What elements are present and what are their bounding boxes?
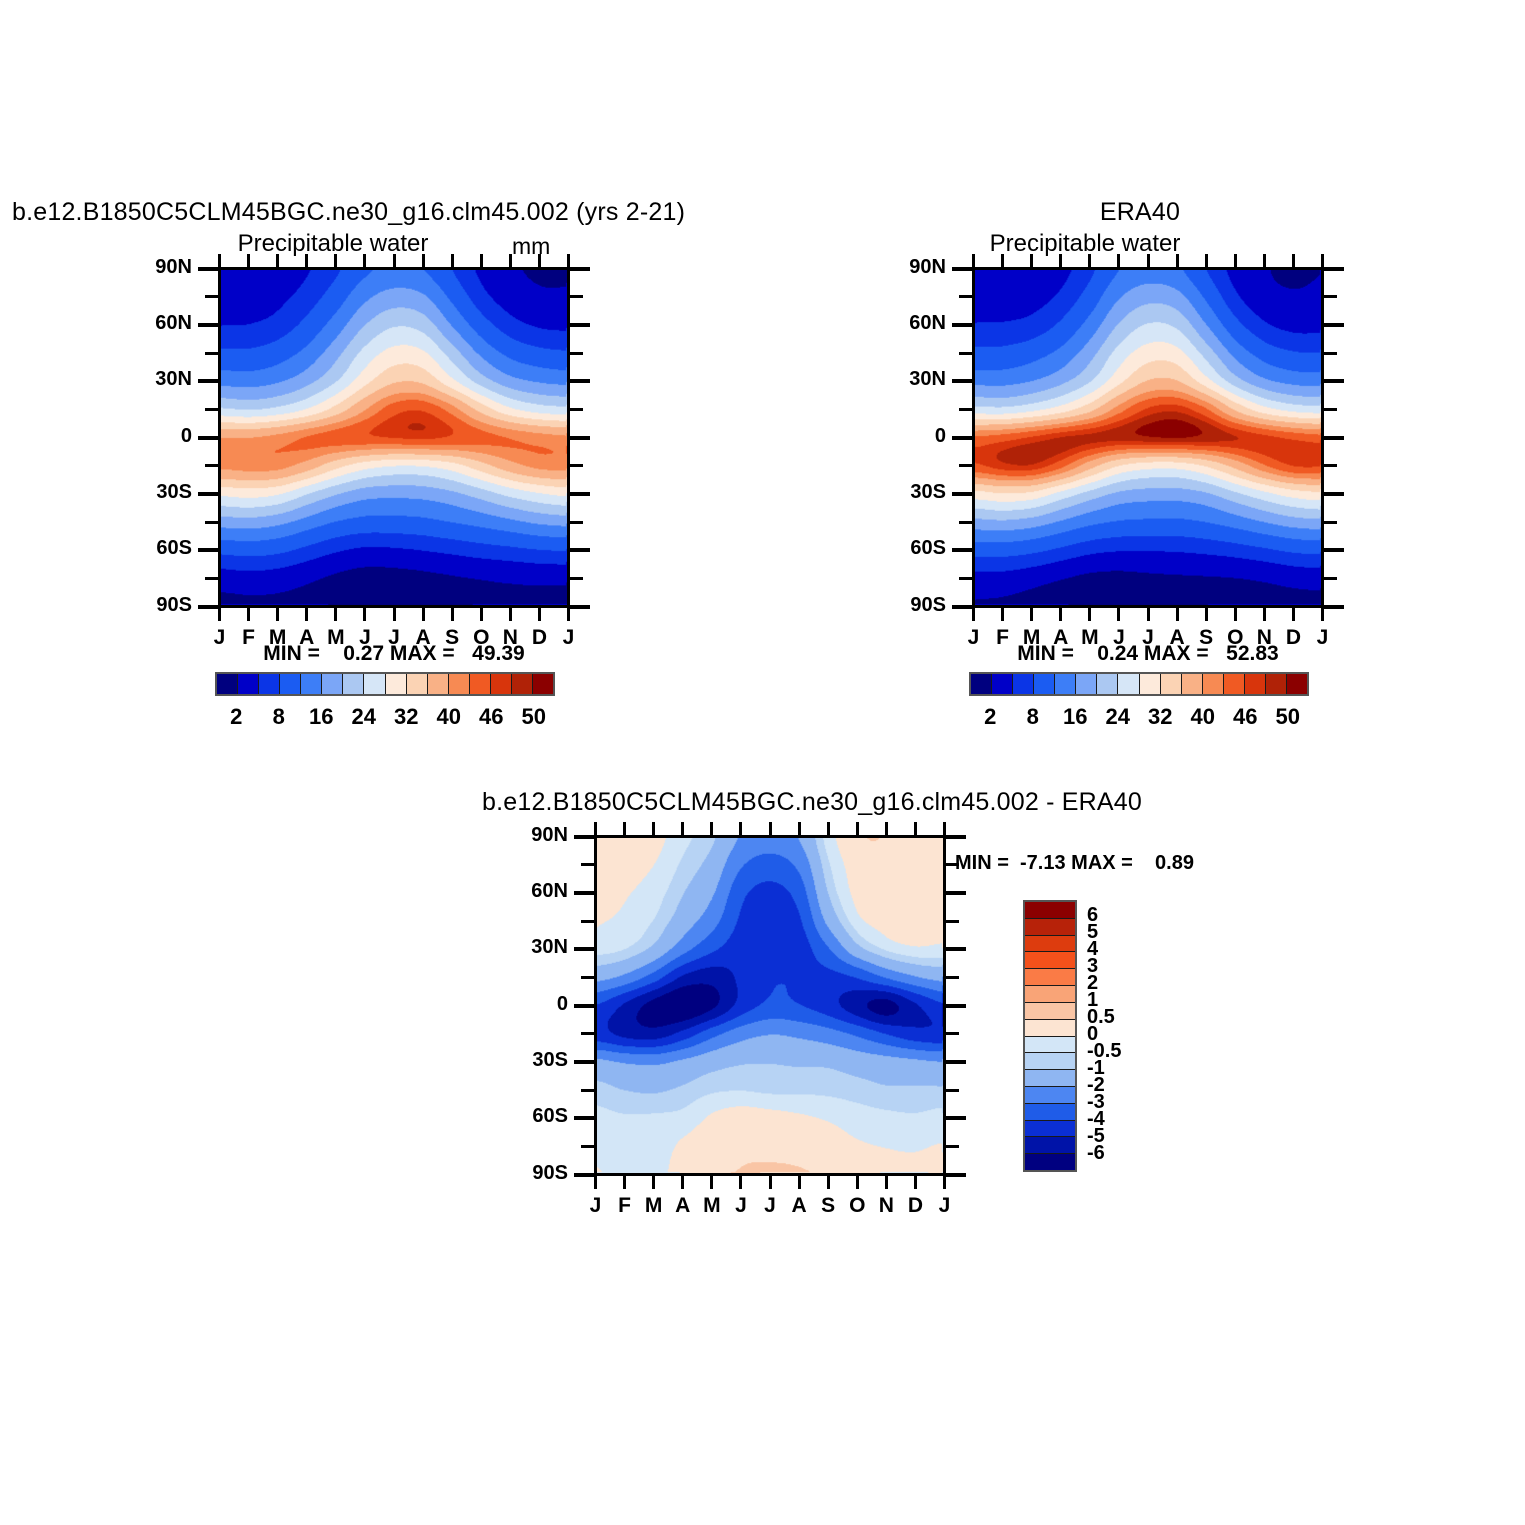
obs-field-label: Precipitable water [990,230,1181,258]
obs-ytick-major-r-0 [1324,267,1344,271]
obs-ytick-minor-r-1 [1324,352,1337,355]
diff-ytick-minor-r-0 [946,863,959,866]
model-swatch-15 [533,674,553,694]
diff-ytick-major-r-6 [946,1173,966,1177]
obs-contour-plot [972,267,1324,608]
obs-ylabel-2: 30N [0,368,946,391]
obs-xtick-top-6 [1147,254,1150,267]
obs-ytick-minor-r-0 [1324,295,1337,298]
model-swatch-0 [217,674,238,694]
obs-xtick-top-2 [1030,254,1033,267]
obs-ytick-minor-r-4 [1324,521,1337,524]
model-swatch-11 [449,674,470,694]
model-swatch-3 [280,674,301,694]
diff-xtick-bot-5 [739,1176,742,1189]
model-swatch-12 [470,674,491,694]
obs-xtick-top-5 [1117,254,1120,267]
diff-month-label-11: D [908,1194,923,1218]
obs-xtick-top-9 [1234,254,1237,267]
obs-month-label-0: J [968,626,980,650]
model-ytick-minor-1 [205,352,218,355]
diff-swatch-3 [1025,952,1075,969]
obs-ytick-minor-r-5 [1324,577,1337,580]
diff-ytick-minor-r-3 [946,1032,959,1035]
model-month-label-11: D [532,626,547,650]
diff-swatch-6 [1025,1003,1075,1020]
obs-xtick-top-8 [1205,254,1208,267]
diff-month-label-0: J [590,1194,602,1218]
diff-swatch-12 [1025,1104,1075,1121]
model-month-label-3: A [299,626,314,650]
obs-ytick-major-r-4 [1324,492,1344,496]
figure-canvas: b.e12.B1850C5CLM45BGC.ne30_g16.clm45.002… [0,0,1525,1525]
obs-xtick-bot-10 [1263,608,1266,621]
diff-month-label-5: J [735,1194,747,1218]
diff-xtick-bot-2 [652,1176,655,1189]
diff-swatch-13 [1025,1121,1075,1138]
obs-ytick-major-r-1 [1324,323,1344,327]
model-month-label-4: M [327,626,345,650]
diff-xtick-bot-8 [827,1176,830,1189]
diff-ytick-major-0 [574,835,594,839]
obs-swatch-0 [971,674,992,694]
diff-xtick-bot-10 [885,1176,888,1189]
obs-ytick-minor-5 [959,577,972,580]
obs-xtick-bot-9 [1234,608,1237,621]
diff-panel-title: b.e12.B1850C5CLM45BGC.ne30_g16.clm45.002… [482,788,1142,817]
obs-ytick-major-5 [952,548,972,552]
obs-xtick-bot-3 [1059,608,1062,621]
obs-ylabel-0: 90N [0,256,946,279]
diff-ytick-major-6 [574,1173,594,1177]
diff-month-label-9: O [849,1194,865,1218]
diff-xtick-top-3 [681,822,684,835]
diff-ytick-minor-r-1 [946,920,959,923]
obs-ylabel-4: 30S [0,481,946,504]
diff-xtick-bot-4 [710,1176,713,1189]
diff-ytick-major-3 [574,1004,594,1008]
diff-month-label-6: J [764,1194,776,1218]
model-swatch-1 [238,674,259,694]
obs-ytick-major-0 [952,267,972,271]
model-month-label-6: J [388,626,400,650]
diff-swatch-4 [1025,969,1075,986]
diff-ytick-major-r-2 [946,947,966,951]
diff-ytick-major-r-5 [946,1116,966,1120]
diff-xtick-bot-3 [681,1176,684,1189]
model-ytick-minor-r-0 [570,295,583,298]
model-month-label-12: J [563,626,575,650]
diff-ytick-minor-r-4 [946,1089,959,1092]
model-month-label-5: J [359,626,371,650]
obs-ytick-major-3 [952,436,972,440]
model-swatch-13 [491,674,512,694]
diff-xtick-top-4 [710,822,713,835]
obs-xtick-bot-4 [1088,608,1091,621]
model-cbar-label-6: 46 [479,704,503,730]
model-swatch-14 [512,674,533,694]
obs-cbar-label-7: 50 [1276,704,1300,730]
model-swatch-4 [301,674,322,694]
diff-xtick-bot-9 [856,1176,859,1189]
model-month-label-0: J [214,626,226,650]
obs-ytick-major-r-5 [1324,548,1344,552]
obs-swatch-13 [1245,674,1266,694]
diff-ytick-minor-r-5 [946,1145,959,1148]
diff-ylabel-0: 90N [0,824,568,847]
diff-month-label-10: N [879,1194,894,1218]
model-panel-title: b.e12.B1850C5CLM45BGC.ne30_g16.clm45.002… [12,198,685,227]
model-month-label-8: S [445,626,459,650]
diff-swatch-11 [1025,1087,1075,1104]
obs-swatch-5 [1076,674,1097,694]
diff-ytick-major-r-0 [946,835,966,839]
diff-month-label-12: J [939,1194,951,1218]
diff-swatch-7 [1025,1020,1075,1037]
model-swatch-6 [343,674,364,694]
diff-ytick-major-1 [574,891,594,895]
diff-ytick-major-5 [574,1116,594,1120]
model-field-label: Precipitable water [238,230,429,258]
obs-ytick-minor-r-2 [1324,408,1337,411]
obs-xtick-bot-0 [972,608,975,621]
obs-cbar-label-4: 32 [1148,704,1172,730]
diff-swatch-8 [1025,1037,1075,1054]
diff-ytick-major-4 [574,1060,594,1064]
model-ytick-minor-4 [205,521,218,524]
obs-month-label-7: A [1169,626,1184,650]
obs-month-label-10: N [1257,626,1272,650]
diff-xtick-top-5 [739,822,742,835]
diff-xtick-bot-6 [769,1176,772,1189]
obs-swatch-4 [1055,674,1076,694]
diff-xtick-top-6 [769,822,772,835]
obs-swatch-3 [1034,674,1055,694]
obs-swatch-15 [1287,674,1307,694]
model-month-label-1: F [242,626,255,650]
diff-xtick-top-8 [827,822,830,835]
diff-ytick-minor-5 [581,1145,594,1148]
obs-swatch-1 [992,674,1013,694]
obs-ytick-major-1 [952,323,972,327]
obs-xtick-top-4 [1088,254,1091,267]
obs-cbar-label-3: 24 [1106,704,1130,730]
obs-xtick-top-1 [1001,254,1004,267]
obs-ytick-major-2 [952,379,972,383]
diff-xtick-bot-0 [594,1176,597,1189]
model-ytick-minor-r-1 [570,352,583,355]
diff-swatch-9 [1025,1053,1075,1070]
obs-ylabel-6: 90S [0,594,946,617]
obs-cbar-label-5: 40 [1191,704,1215,730]
obs-swatch-6 [1097,674,1118,694]
diff-month-label-1: F [618,1194,631,1218]
diff-ylabel-2: 30N [0,936,568,959]
obs-cbar-label-0: 2 [984,704,996,730]
obs-ytick-major-r-6 [1324,605,1344,609]
diff-swatch-5 [1025,986,1075,1003]
model-month-label-9: O [473,626,489,650]
diff-ytick-minor-2 [581,976,594,979]
obs-swatch-8 [1140,674,1161,694]
model-ytick-minor-r-4 [570,521,583,524]
diff-xtick-top-10 [885,822,888,835]
obs-month-label-2: M [1023,626,1041,650]
obs-xtick-bot-5 [1117,608,1120,621]
diff-ylabel-4: 30S [0,1049,568,1072]
obs-month-label-4: M [1081,626,1099,650]
obs-xtick-bot-7 [1176,608,1179,621]
obs-ytick-major-6 [952,605,972,609]
obs-month-label-9: O [1227,626,1243,650]
model-swatch-7 [364,674,385,694]
obs-ytick-minor-r-3 [1324,464,1337,467]
model-month-label-10: N [503,626,518,650]
obs-month-label-11: D [1286,626,1301,650]
model-ytick-minor-3 [205,464,218,467]
model-month-label-7: A [415,626,430,650]
diff-month-label-4: M [703,1194,721,1218]
obs-cbar-label-1: 8 [1027,704,1039,730]
diff-cbar-label-14: -6 [1087,1142,1105,1165]
model-ytick-minor-r-2 [570,408,583,411]
obs-swatch-11 [1203,674,1224,694]
diff-ylabel-1: 60N [0,880,568,903]
obs-ytick-minor-2 [959,408,972,411]
model-cbar-label-5: 40 [437,704,461,730]
diff-xtick-top-11 [914,822,917,835]
obs-xtick-top-0 [972,254,975,267]
diff-month-label-7: A [791,1194,806,1218]
obs-ytick-major-r-3 [1324,436,1344,440]
obs-month-label-3: A [1053,626,1068,650]
diff-month-label-3: A [675,1194,690,1218]
diff-ytick-major-r-4 [946,1060,966,1064]
diff-swatch-2 [1025,936,1075,953]
obs-ylabel-5: 60S [0,537,946,560]
diff-xtick-top-1 [623,822,626,835]
diff-xtick-top-2 [652,822,655,835]
obs-xtick-top-12 [1321,254,1324,267]
diff-ylabel-5: 60S [0,1105,568,1128]
diff-xtick-bot-1 [623,1176,626,1189]
diff-ylabel-3: 0 [0,993,568,1016]
model-swatch-2 [259,674,280,694]
obs-month-label-6: J [1142,626,1154,650]
model-swatch-5 [322,674,343,694]
model-cbar-label-7: 50 [522,704,546,730]
diff-xtick-top-12 [943,822,946,835]
diff-swatch-0 [1025,902,1075,919]
diff-swatch-14 [1025,1137,1075,1154]
obs-colorbar [969,672,1309,696]
diff-ytick-minor-1 [581,920,594,923]
obs-swatch-12 [1224,674,1245,694]
model-ytick-minor-r-3 [570,464,583,467]
diff-month-label-8: S [821,1194,835,1218]
obs-month-label-12: J [1317,626,1329,650]
model-swatch-9 [407,674,428,694]
model-swatch-10 [428,674,449,694]
obs-ylabel-3: 0 [0,425,946,448]
model-swatch-8 [386,674,407,694]
obs-swatch-9 [1161,674,1182,694]
diff-ytick-major-r-1 [946,891,966,895]
obs-month-label-5: J [1113,626,1125,650]
model-ytick-minor-5 [205,577,218,580]
model-ytick-minor-2 [205,408,218,411]
model-colorbar [215,672,555,696]
obs-swatch-10 [1182,674,1203,694]
obs-xtick-bot-1 [1001,608,1004,621]
obs-xtick-top-3 [1059,254,1062,267]
diff-swatch-15 [1025,1154,1075,1170]
obs-xtick-bot-8 [1205,608,1208,621]
obs-ylabel-1: 60N [0,312,946,335]
diff-ytick-minor-r-2 [946,976,959,979]
diff-xtick-bot-12 [943,1176,946,1189]
diff-contour-canvas [597,838,943,1173]
obs-xtick-bot-11 [1292,608,1295,621]
diff-xtick-bot-7 [798,1176,801,1189]
diff-xtick-bot-11 [914,1176,917,1189]
obs-swatch-14 [1266,674,1287,694]
obs-month-label-1: F [996,626,1009,650]
obs-swatch-2 [1013,674,1034,694]
diff-xtick-top-9 [856,822,859,835]
model-cbar-label-4: 32 [394,704,418,730]
obs-panel-title: ERA40 [1100,198,1180,227]
diff-ylabel-6: 90S [0,1162,568,1185]
obs-xtick-bot-6 [1147,608,1150,621]
diff-ytick-minor-0 [581,863,594,866]
diff-ytick-minor-4 [581,1089,594,1092]
obs-ytick-minor-1 [959,352,972,355]
model-cbar-label-0: 2 [230,704,242,730]
diff-colorbar [1023,900,1077,1172]
obs-month-label-8: S [1199,626,1213,650]
diff-xtick-top-7 [798,822,801,835]
diff-month-label-2: M [645,1194,663,1218]
model-ytick-minor-r-5 [570,577,583,580]
diff-ytick-major-2 [574,947,594,951]
diff-ytick-major-r-3 [946,1004,966,1008]
diff-swatch-10 [1025,1070,1075,1087]
obs-ytick-minor-0 [959,295,972,298]
model-month-label-2: M [269,626,287,650]
obs-ytick-major-r-2 [1324,379,1344,383]
diff-xtick-top-0 [594,822,597,835]
diff-swatch-1 [1025,919,1075,936]
diff-minmax-label: MIN = -7.13 MAX = 0.89 [955,852,1194,875]
obs-xtick-bot-12 [1321,608,1324,621]
obs-swatch-7 [1118,674,1139,694]
model-ytick-minor-0 [205,295,218,298]
obs-ytick-major-4 [952,492,972,496]
diff-ytick-minor-3 [581,1032,594,1035]
obs-cbar-label-2: 16 [1063,704,1087,730]
obs-xtick-bot-2 [1030,608,1033,621]
obs-contour-canvas [975,270,1321,605]
model-cbar-label-2: 16 [309,704,333,730]
obs-ytick-minor-3 [959,464,972,467]
model-cbar-label-1: 8 [273,704,285,730]
model-cbar-label-3: 24 [352,704,376,730]
obs-ytick-minor-4 [959,521,972,524]
obs-xtick-top-10 [1263,254,1266,267]
diff-contour-plot [594,835,946,1176]
obs-xtick-top-7 [1176,254,1179,267]
obs-cbar-label-6: 46 [1233,704,1257,730]
obs-xtick-top-11 [1292,254,1295,267]
